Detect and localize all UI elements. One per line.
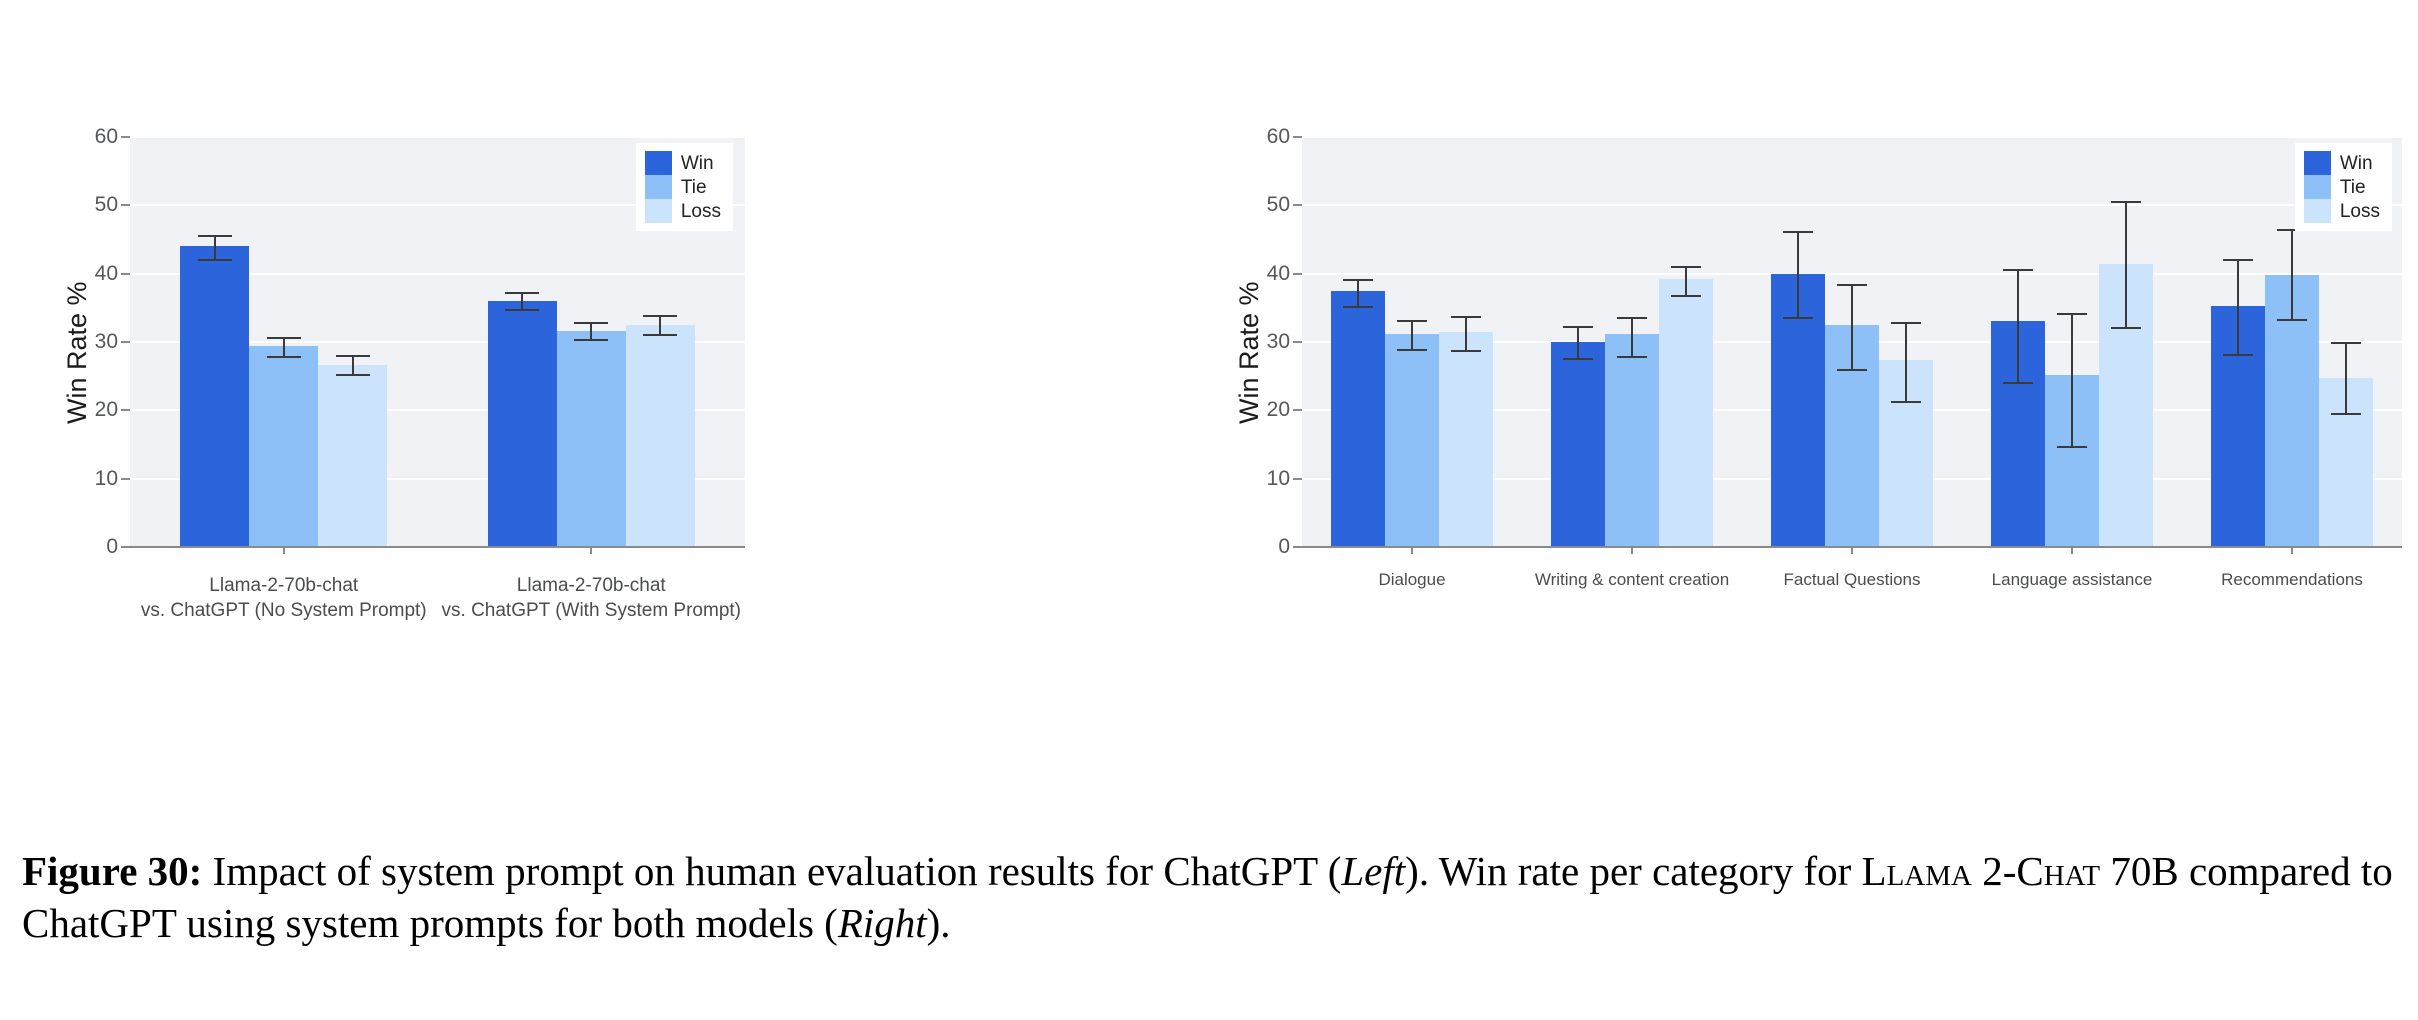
y-axis-tick-mark [121, 409, 130, 411]
error-bar-stem [590, 322, 592, 339]
bar-tie [249, 346, 318, 547]
error-bar-cap-upper [1397, 320, 1427, 322]
plot-area-right: 0102030405060 DialogueWriting & content … [1302, 137, 2402, 547]
bar-win [1331, 291, 1385, 547]
caption-model-name: Llama 2-Chat [1862, 848, 2101, 894]
legend-label: Win [2340, 154, 2373, 173]
error-bar-cap-upper [198, 235, 232, 237]
y-axis-tick-mark [121, 136, 130, 138]
x-axis-tick-mark [2071, 547, 2073, 554]
legend-item[interactable]: Loss [645, 199, 721, 223]
error-bar-stem [352, 355, 354, 374]
error-bar-cap-lower [198, 259, 232, 261]
error-bar-stem [2071, 313, 2073, 446]
x-axis-category-label: Llama-2-70b-chatvs. ChatGPT (With System… [442, 573, 741, 623]
legend-swatch-win [645, 151, 672, 175]
x-axis-category-line: Llama-2-70b-chat [141, 573, 427, 598]
plot-area-left: 0102030405060 Llama-2-70b-chatvs. ChatGP… [130, 137, 745, 547]
y-axis-tick-mark [1293, 204, 1302, 206]
error-bar-cap-upper [2331, 342, 2361, 344]
error-bar-stem [214, 235, 216, 259]
error-bar-cap-lower [1397, 349, 1427, 351]
error-bar-cap-upper [574, 322, 608, 324]
error-bar-cap-upper [2223, 259, 2253, 261]
error-bar-cap-lower [505, 309, 539, 311]
error-bar-stem [1631, 317, 1633, 357]
error-bar-cap-lower [267, 356, 301, 358]
bar-loss [626, 325, 695, 547]
y-axis-tick-mark [121, 546, 130, 548]
error-bar-cap-upper [2057, 313, 2087, 315]
x-axis-category-label: Dialogue [1378, 569, 1445, 591]
y-axis-tick-mark [1293, 409, 1302, 411]
x-axis-category-line: vs. ChatGPT (With System Prompt) [442, 598, 741, 623]
error-bar-cap-lower [1343, 306, 1373, 308]
error-bar-cap-lower [1891, 401, 1921, 403]
bar-tie [557, 331, 626, 547]
error-bar-cap-lower [2277, 319, 2307, 321]
error-bar-cap-lower [2057, 446, 2087, 448]
error-bar-cap-upper [1891, 322, 1921, 324]
error-bar-cap-lower [1451, 350, 1481, 352]
error-bar-stem [1577, 326, 1579, 359]
y-axis-tick-mark [1293, 341, 1302, 343]
error-bar-cap-upper [336, 355, 370, 357]
error-bar-cap-lower [574, 339, 608, 341]
error-bar-cap-upper [1783, 231, 1813, 233]
error-bar-stem [1465, 316, 1467, 349]
legend-item[interactable]: Tie [645, 175, 721, 199]
error-bar-cap-upper [505, 292, 539, 294]
chart-panel-left: Win Rate % 0102030405060 Llama-2-70b-cha… [0, 0, 1210, 680]
legend-swatch-tie [645, 175, 672, 199]
error-bar-cap-lower [643, 334, 677, 336]
legend-swatch-tie [2304, 175, 2331, 199]
legend-label: Tie [681, 178, 707, 197]
error-bar-cap-lower [1783, 317, 1813, 319]
error-bar-cap-upper [1343, 279, 1373, 281]
error-bar-stem [1905, 322, 1907, 401]
error-bar-stem [283, 337, 285, 357]
y-axis-tick-mark [121, 204, 130, 206]
bar-tie [1385, 334, 1439, 547]
error-bar-cap-upper [1563, 326, 1593, 328]
caption-text-1: Impact of system prompt on human evaluat… [202, 848, 1341, 894]
error-bar-cap-upper [1671, 266, 1701, 268]
x-axis-category-label: Writing & content creation [1535, 569, 1729, 591]
x-axis-tick-mark [2291, 547, 2293, 554]
x-axis-category-label: Recommendations [2221, 569, 2363, 591]
error-bar-stem [521, 292, 523, 309]
legend-right: WinTieLoss [2295, 143, 2392, 231]
x-axis-category-label: Llama-2-70b-chatvs. ChatGPT (No System P… [141, 573, 427, 623]
x-axis-tick-mark [283, 547, 285, 554]
error-bar-stem [1357, 279, 1359, 306]
x-axis-tick-mark [1851, 547, 1853, 554]
y-axis-tick-mark [1293, 546, 1302, 548]
error-bar-stem [2291, 229, 2293, 319]
y-axis-tick-mark [121, 341, 130, 343]
error-bar-cap-lower [1563, 358, 1593, 360]
bar-win [180, 246, 249, 547]
legend-swatch-win [2304, 151, 2331, 175]
error-bar-stem [1851, 284, 1853, 369]
error-bar-cap-lower [1837, 369, 1867, 371]
x-axis-category-label: Language assistance [1992, 569, 2153, 591]
bar-loss [1659, 279, 1713, 547]
y-axis-label-left: Win Rate % [62, 281, 93, 424]
error-bar-stem [2125, 201, 2127, 327]
bar-tie [1605, 334, 1659, 547]
error-bar-cap-lower [2003, 382, 2033, 384]
x-axis-tick-mark [590, 547, 592, 554]
error-bar-stem [659, 315, 661, 335]
error-bar-cap-lower [2223, 354, 2253, 356]
legend-label: Loss [2340, 202, 2380, 221]
gridline [1302, 136, 2402, 138]
y-axis-label-right: Win Rate % [1234, 281, 1265, 424]
legend-left: WinTieLoss [636, 143, 733, 231]
error-bar-cap-lower [2331, 413, 2361, 415]
legend-item[interactable]: Win [645, 151, 721, 175]
x-axis-category-line: vs. ChatGPT (No System Prompt) [141, 598, 427, 623]
error-bar-cap-upper [1617, 317, 1647, 319]
y-axis-tick-mark [1293, 273, 1302, 275]
x-axis-tick-mark [1411, 547, 1413, 554]
error-bar-cap-upper [1451, 316, 1481, 318]
figure-caption: Figure 30: Impact of system prompt on hu… [22, 845, 2402, 950]
caption-left-emphasis: Left [1341, 848, 1405, 894]
y-axis-tick-mark [121, 273, 130, 275]
figure-30: Win Rate % 0102030405060 Llama-2-70b-cha… [0, 0, 2418, 1020]
x-axis-category-line: Llama-2-70b-chat [442, 573, 741, 598]
error-bar-cap-lower [2111, 327, 2141, 329]
caption-label: Figure 30: [22, 848, 202, 894]
caption-text-2: ). Win rate per category for [1405, 848, 1861, 894]
bar-win [1551, 342, 1605, 547]
error-bar-cap-upper [643, 315, 677, 317]
error-bar-stem [1685, 266, 1687, 295]
y-axis-tick-mark [121, 478, 130, 480]
y-axis-tick-mark [1293, 478, 1302, 480]
bar-loss [318, 365, 387, 547]
bar-loss [1439, 332, 1493, 547]
gridline [1302, 204, 2402, 206]
gridline [130, 136, 745, 138]
x-axis-category-label: Factual Questions [1783, 569, 1920, 591]
legend-item[interactable]: Tie [2304, 175, 2380, 199]
error-bar-cap-upper [2003, 269, 2033, 271]
error-bar-cap-upper [267, 337, 301, 339]
error-bar-stem [2237, 259, 2239, 353]
y-axis-tick-mark [1293, 136, 1302, 138]
caption-text-4: ). [927, 900, 951, 946]
error-bar-stem [1797, 231, 1799, 317]
legend-swatch-loss [645, 199, 672, 223]
legend-label: Loss [681, 202, 721, 221]
bar-win [488, 301, 557, 547]
legend-item[interactable]: Loss [2304, 199, 2380, 223]
legend-label: Win [681, 154, 714, 173]
chart-panel-right: Win Rate % 0102030405060 DialogueWriting… [1210, 0, 2418, 680]
error-bar-cap-lower [336, 374, 370, 376]
error-bar-stem [2345, 342, 2347, 413]
legend-item[interactable]: Win [2304, 151, 2380, 175]
error-bar-cap-lower [1617, 356, 1647, 358]
error-bar-cap-upper [2111, 201, 2141, 203]
error-bar-stem [2017, 269, 2019, 382]
error-bar-stem [1411, 320, 1413, 349]
x-axis-line-left [130, 546, 745, 548]
legend-label: Tie [2340, 178, 2366, 197]
caption-right-emphasis: Right [838, 900, 927, 946]
error-bar-cap-lower [1671, 295, 1701, 297]
legend-swatch-loss [2304, 199, 2331, 223]
x-axis-tick-mark [1631, 547, 1633, 554]
error-bar-cap-upper [1837, 284, 1867, 286]
